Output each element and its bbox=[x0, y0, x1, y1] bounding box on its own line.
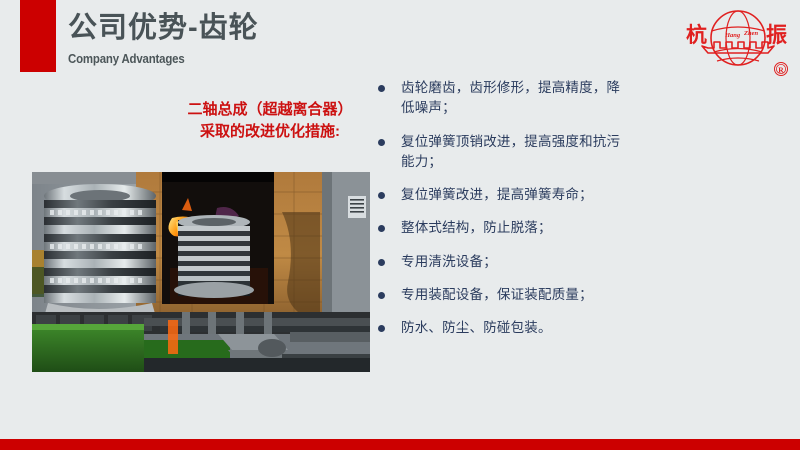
furnace-ring-stack bbox=[174, 215, 254, 298]
logo-char-left: 杭 bbox=[686, 23, 707, 47]
logo-pinyin-right: Zhen bbox=[743, 30, 758, 37]
list-item-label: 复位弹簧改进，提高弹簧寿命； bbox=[401, 185, 628, 205]
callout-line-2: 采取的改进优化措施: bbox=[150, 121, 390, 143]
bullet-dot-icon bbox=[378, 85, 385, 92]
list-item: 齿轮磨齿，齿形修形，提高精度，降低噪声； bbox=[378, 78, 628, 119]
slide-root: 公司优势-齿轮 Company Advantages Hang Zhen 杭 振 bbox=[0, 0, 800, 450]
bullet-dot-icon bbox=[378, 225, 385, 232]
bullet-dot-icon bbox=[378, 192, 385, 199]
callout-line-1: 二轴总成（超越离合器） bbox=[150, 99, 390, 121]
bullet-dot-icon bbox=[378, 292, 385, 299]
list-item: 防水、防尘、防碰包装。 bbox=[378, 318, 628, 338]
list-item: 复位弹簧顶销改进，提高强度和抗污能力； bbox=[378, 132, 628, 173]
svg-text:R: R bbox=[778, 65, 784, 74]
gear-ring-stack bbox=[44, 184, 156, 317]
bullet-dot-icon bbox=[378, 139, 385, 146]
list-item: 复位弹簧改进，提高弹簧寿命； bbox=[378, 185, 628, 205]
bullet-dot-icon bbox=[378, 325, 385, 332]
logo-char-right: 振 bbox=[766, 23, 787, 47]
product-photo bbox=[32, 172, 370, 372]
list-item-label: 专用装配设备，保证装配质量； bbox=[401, 285, 628, 305]
list-item-label: 复位弹簧顶销改进，提高强度和抗污能力； bbox=[401, 132, 628, 173]
bullet-dot-icon bbox=[378, 259, 385, 266]
list-item-label: 防水、防尘、防碰包装。 bbox=[401, 318, 628, 338]
list-item-label: 专用清洗设备； bbox=[401, 252, 628, 272]
header-titles: 公司优势-齿轮 Company Advantages bbox=[68, 10, 628, 66]
callout-text: 二轴总成（超越离合器） 采取的改进优化措施: bbox=[150, 99, 390, 143]
advantages-list: 齿轮磨齿，齿形修形，提高精度，降低噪声； 复位弹簧顶销改进，提高强度和抗污能力；… bbox=[378, 78, 628, 351]
registered-mark-icon: R bbox=[775, 63, 788, 76]
list-item-label: 齿轮磨齿，齿形修形，提高精度，降低噪声； bbox=[401, 78, 628, 119]
page-title: 公司优势-齿轮 bbox=[68, 10, 628, 46]
page-subtitle: Company Advantages bbox=[68, 51, 561, 66]
company-logo: Hang Zhen 杭 振 R bbox=[684, 4, 792, 80]
footer-accent-bar bbox=[0, 439, 800, 450]
logo-pinyin-left: Hang bbox=[724, 32, 741, 39]
list-item: 专用装配设备，保证装配质量； bbox=[378, 285, 628, 305]
header-accent-bar bbox=[20, 0, 56, 72]
list-item: 专用清洗设备； bbox=[378, 252, 628, 272]
list-item: 整体式结构，防止脱落； bbox=[378, 218, 628, 238]
list-item-label: 整体式结构，防止脱落； bbox=[401, 218, 628, 238]
